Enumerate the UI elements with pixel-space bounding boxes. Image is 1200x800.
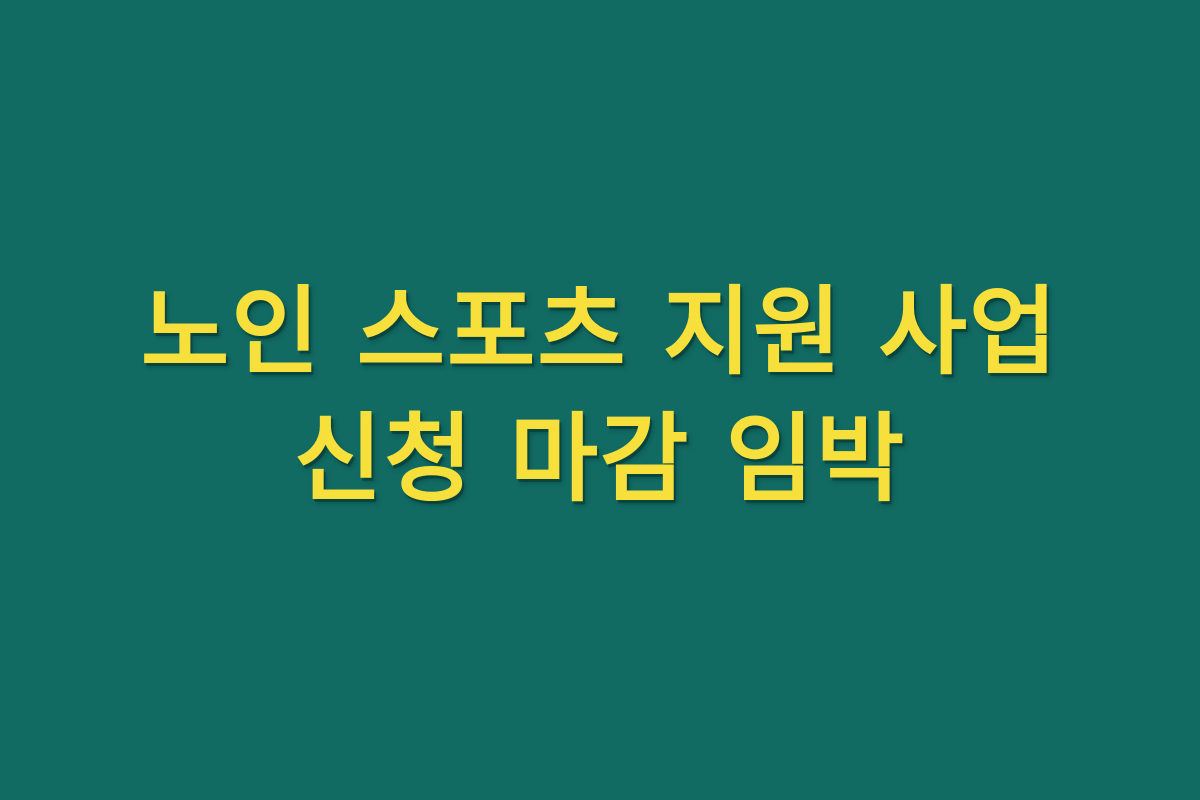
headline-block: 노인 스포츠 지원 사업 신청 마감 임박	[141, 274, 1059, 518]
headline-line-2: 신청 마감 임박	[294, 401, 906, 518]
banner-canvas: 노인 스포츠 지원 사업 신청 마감 임박	[0, 0, 1200, 800]
headline-line-1: 노인 스포츠 지원 사업	[141, 274, 1059, 391]
